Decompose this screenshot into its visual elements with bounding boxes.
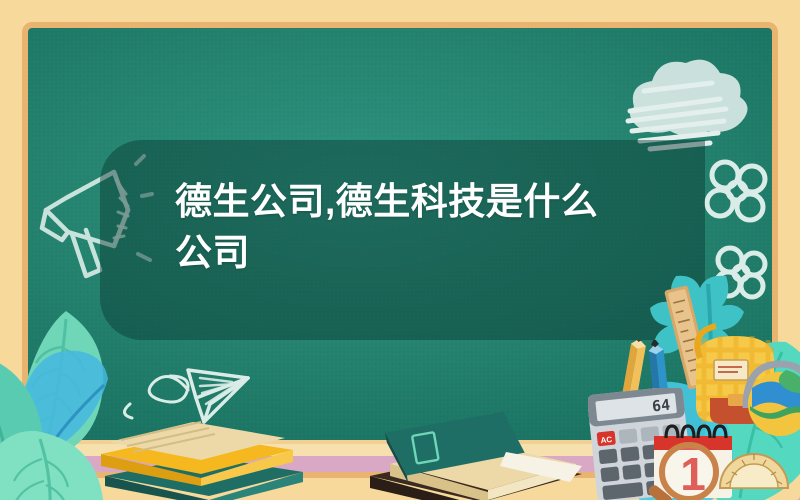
page-title: 德生公司,德生科技是什么 公司 <box>175 176 695 278</box>
svg-text:AC: AC <box>600 435 613 445</box>
page-title-line-2: 公司 <box>175 227 695 278</box>
page-title-line-1: 德生公司,德生科技是什么 <box>175 176 695 227</box>
globe-object <box>742 348 800 443</box>
flower-chalk-icon <box>700 155 775 235</box>
svg-text:64: 64 <box>651 396 671 416</box>
banner-image: 德生公司,德生科技是什么 公司 <box>0 0 800 500</box>
stacked-books-center <box>330 412 600 500</box>
protractor-object <box>718 440 790 490</box>
magnifying-glass-object <box>645 438 725 500</box>
stacked-books-left <box>95 398 310 500</box>
